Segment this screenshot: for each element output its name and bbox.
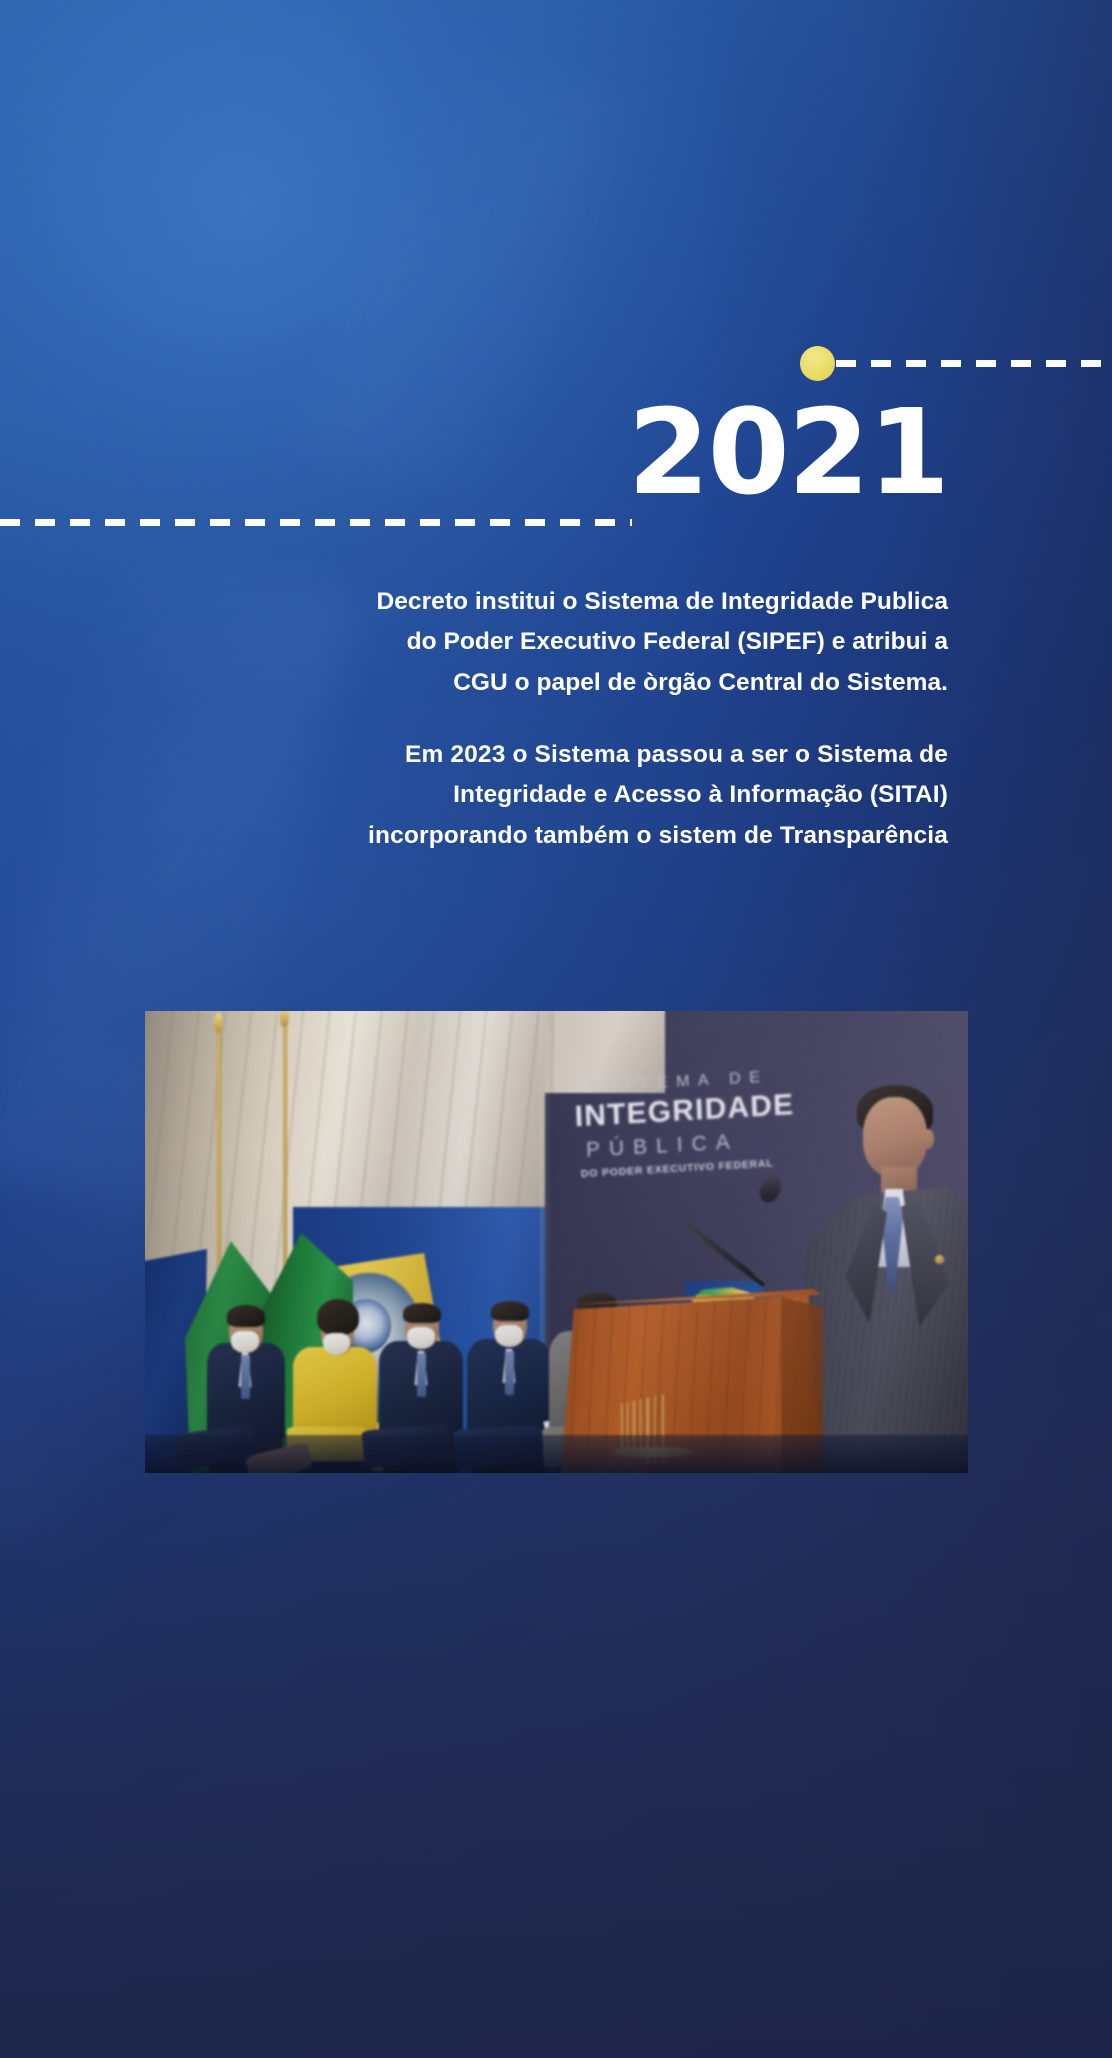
description-paragraph-1: Decreto institui o Sistema de Integridad… [348,582,948,703]
event-photograph: SISTEMA DE INTEGRIDADE PÚBLICA DO PODER … [145,1011,968,1473]
year-heading: 2021 [388,393,948,511]
photo-stage-floor [145,1435,968,1473]
dashed-connector-left-icon [0,519,632,526]
description-paragraph-2-block: Em 2023 o Sistema passou a ser o Sistema… [348,735,948,856]
photo-speaker-head [863,1097,927,1177]
photo-flag-finial [214,1013,223,1033]
description-paragraph-2: Em 2023 o Sistema passou a ser o Sistema… [348,735,948,856]
description-paragraph-1-block: Decreto institui o Sistema de Integridad… [348,582,948,703]
photo-speaker-lapel-pin-icon [935,1255,944,1264]
dashed-connector-right-icon [836,360,1112,367]
photo-banner-text-block: SISTEMA DE INTEGRIDADE PÚBLICA DO PODER … [573,1063,876,1181]
yellow-milestone-dot-icon [800,346,835,381]
photo-flag-finial [280,1011,289,1027]
timeline-slide-2021: 2021 Decreto institui o Sistema de Integ… [0,0,1112,2058]
photo-speaker-ear [921,1129,934,1149]
